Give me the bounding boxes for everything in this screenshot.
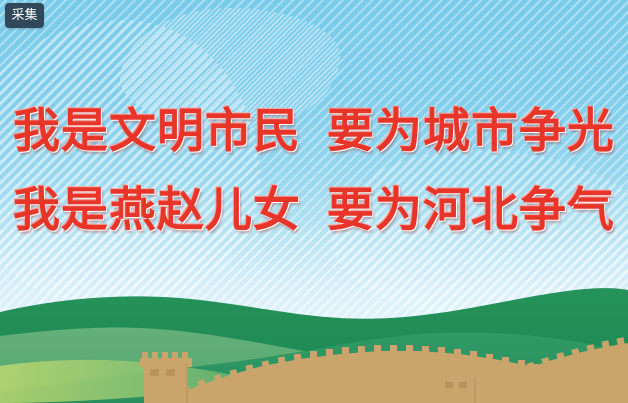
slogan-line-1-left: 我是文明市民 (13, 104, 301, 159)
slogan-line-2-right: 要为河北争气 (327, 183, 615, 238)
great-wall-left-tower (140, 352, 192, 403)
slogan-line-1: 我是文明市民要为城市争光 (0, 92, 628, 171)
slogan-text-block: 我是文明市民要为城市争光 我是燕赵儿女要为河北争气 (0, 92, 628, 250)
capture-button[interactable]: 采集 (5, 3, 44, 28)
slogan-line-1-right: 要为城市争光 (327, 104, 615, 159)
slogan-line-2: 我是燕赵儿女要为河北争气 (0, 171, 628, 250)
slogan-line-2-left: 我是燕赵儿女 (13, 183, 301, 238)
great-wall-right-tower (436, 366, 480, 403)
banner-screenshot: 我是文明市民要为城市争光 我是燕赵儿女要为河北争气 采集 (0, 0, 628, 403)
